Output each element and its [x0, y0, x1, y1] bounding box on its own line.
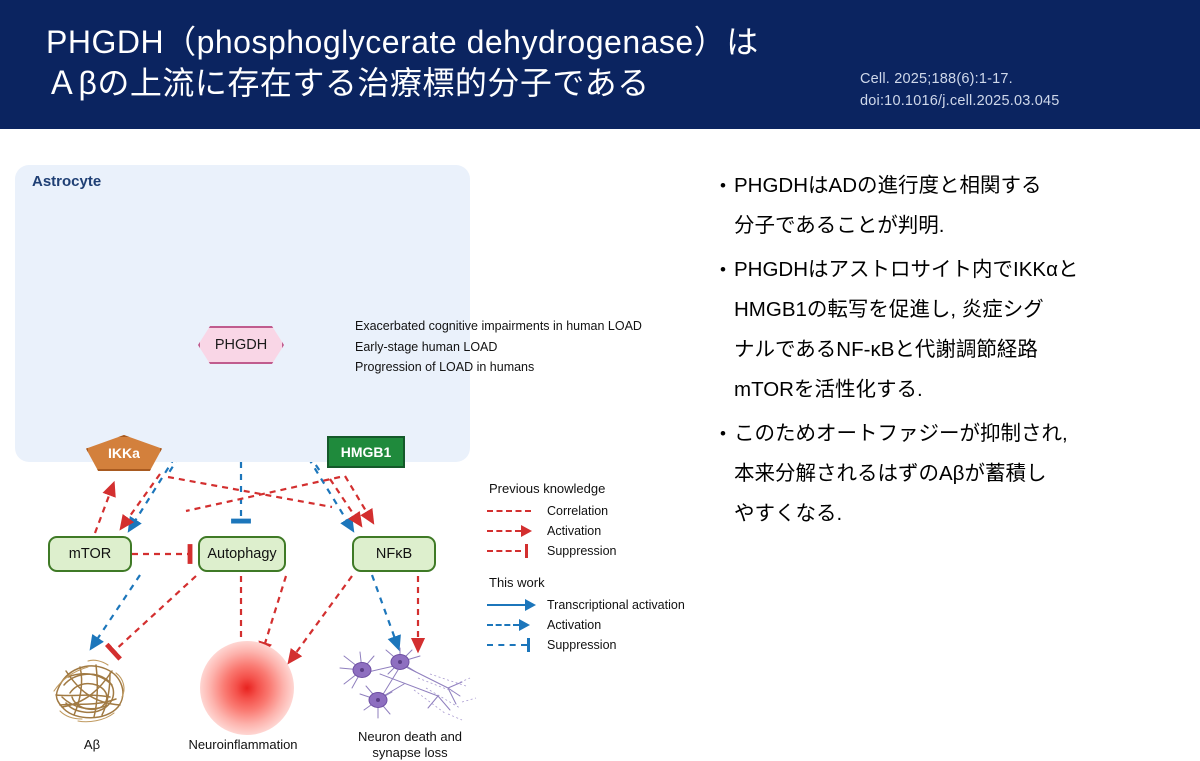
- annotation-early-stage: Early-stage human LOAD: [355, 340, 497, 354]
- annotation-progression: Progression of LOAD in humans: [355, 360, 534, 374]
- node-nfkb[interactable]: NFκB: [352, 536, 436, 572]
- legend-spacer: [487, 561, 712, 575]
- legend-item-correlation: Correlation: [487, 501, 712, 521]
- astrocyte-compartment: [15, 165, 470, 462]
- astrocyte-label: Astrocyte: [32, 173, 101, 190]
- legend-group-thiswork-title: This work: [489, 575, 712, 590]
- bullet-text-2: PHGDHはアストロサイト内でIKKαと HMGB1の転写を促進し, 炎症シグ …: [734, 250, 1078, 410]
- bullet-marker-icon: •: [712, 250, 734, 290]
- page-title: PHGDH（phosphoglycerate dehydrogenase）は Ａ…: [46, 22, 759, 104]
- red-dashed-line-icon: [487, 504, 539, 518]
- blue-dashed-arrow-icon: [487, 618, 539, 632]
- legend-item-activation-prev: Activation: [487, 521, 712, 541]
- bullet-list: • PHGDHはADの進行度と相関する 分子であることが判明. • PHGDHは…: [712, 166, 1200, 538]
- amyloid-beta-plaque-image: [48, 649, 136, 729]
- legend-label-suppression-new: Suppression: [547, 638, 617, 652]
- pathway-figure: Astrocyte PHGDH IKKa HMGB1 mTOR Autophag…: [0, 129, 712, 675]
- bullet-text-1: PHGDHはADの進行度と相関する 分子であることが判明.: [734, 166, 1042, 246]
- list-item: • このためオートファジーが抑制され, 本来分解されるはずのAβが蓄積し やすく…: [712, 414, 1200, 534]
- bullet-marker-icon: •: [712, 166, 734, 206]
- bullet-marker-icon: •: [712, 414, 734, 454]
- list-item: • PHGDHはADの進行度と相関する 分子であることが判明.: [712, 166, 1200, 246]
- legend-group-previous-title: Previous knowledge: [489, 481, 712, 496]
- legend-label-suppression-prev: Suppression: [547, 544, 617, 558]
- legend-item-transcriptional-activation: Transcriptional activation: [487, 595, 712, 615]
- neuroinflammation-glow-image: [200, 641, 294, 735]
- figure-legend: Previous knowledge Correlation Activatio…: [487, 481, 712, 655]
- list-item: • PHGDHはアストロサイト内でIKKαと HMGB1の転写を促進し, 炎症シ…: [712, 250, 1200, 410]
- node-hmgb1[interactable]: HMGB1: [327, 436, 405, 468]
- legend-item-activation-new: Activation: [487, 615, 712, 635]
- outcome-label-abeta: Aβ: [62, 737, 122, 753]
- node-autophagy[interactable]: Autophagy: [198, 536, 286, 572]
- red-dashed-arrow-icon: [487, 524, 539, 538]
- legend-item-suppression-prev: Suppression: [487, 541, 712, 561]
- annotation-exacerbated-cognitive: Exacerbated cognitive impairments in hum…: [355, 319, 642, 333]
- node-mtor[interactable]: mTOR: [48, 536, 132, 572]
- outcome-label-neuron-death: Neuron death and synapse loss: [330, 729, 490, 761]
- blue-dashed-bar-icon: [487, 638, 539, 652]
- outcome-label-neuroinflammation: Neuroinflammation: [168, 737, 318, 753]
- legend-item-suppression-new: Suppression: [487, 635, 712, 655]
- red-dashed-bar-icon: [487, 544, 539, 558]
- blue-solid-arrow-icon: [487, 598, 539, 612]
- citation-reference: Cell. 2025;188(6):1-17. doi:10.1016/j.ce…: [860, 68, 1060, 112]
- legend-label-activation-new: Activation: [547, 618, 601, 632]
- node-phgdh[interactable]: PHGDH: [198, 326, 284, 364]
- slide-header: PHGDH（phosphoglycerate dehydrogenase）は Ａ…: [0, 0, 1200, 129]
- neuron-death-image: [330, 644, 480, 726]
- bullet-text-3: このためオートファジーが抑制され, 本来分解されるはずのAβが蓄積し やすくなる…: [734, 414, 1068, 534]
- legend-label-correlation: Correlation: [547, 504, 608, 518]
- legend-label-activation-prev: Activation: [547, 524, 601, 538]
- legend-label-transcriptional-activation: Transcriptional activation: [547, 598, 685, 612]
